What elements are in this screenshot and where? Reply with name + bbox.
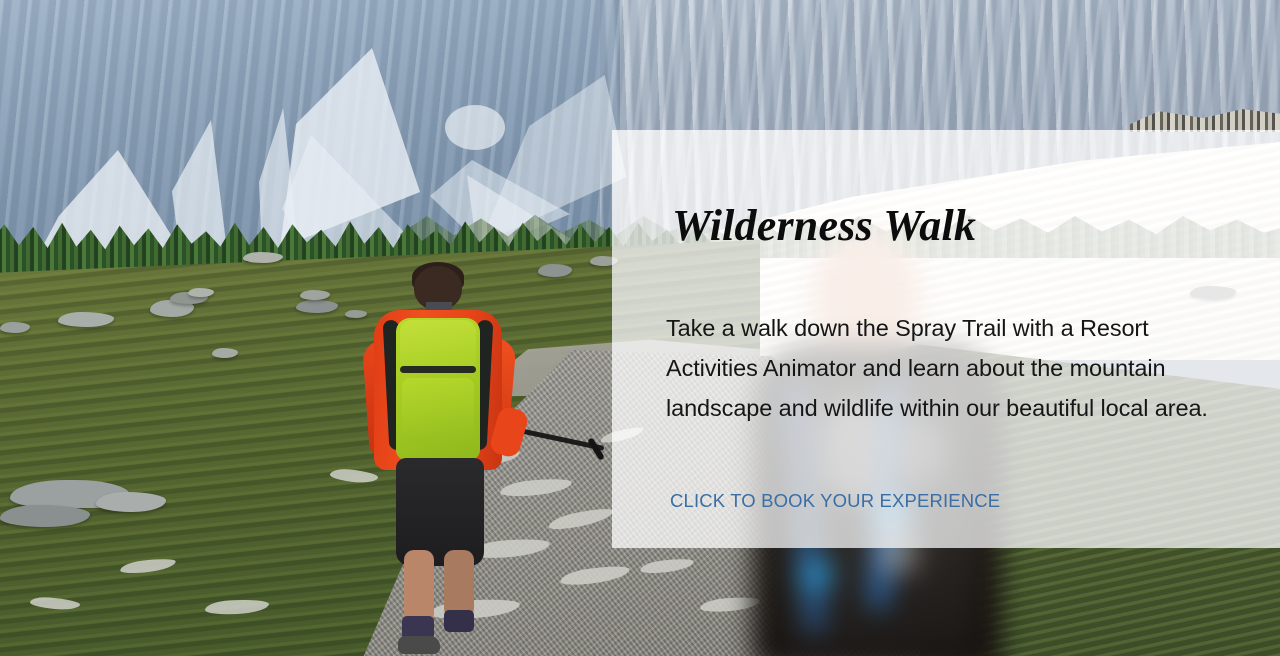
hiker-figure	[352, 258, 532, 656]
hiker-left-leg	[404, 550, 434, 624]
book-experience-link[interactable]: CLICK TO BOOK YOUR EXPERIENCE	[670, 490, 1000, 512]
hiker-right-leg	[444, 550, 474, 618]
foreground-strap-buckle	[800, 560, 832, 590]
backpack-lid	[400, 320, 476, 368]
hiker-right-sock	[444, 610, 474, 632]
snow-patch	[445, 105, 505, 150]
promo-description: Take a walk down the Spray Trail with a …	[666, 308, 1228, 428]
hiker-shoe	[398, 636, 440, 654]
hero-banner: Wilderness Walk Take a walk down the Spr…	[0, 0, 1280, 656]
backpack-front-pocket	[402, 378, 474, 442]
backpack-divider	[400, 366, 476, 373]
page-title: Wilderness Walk	[672, 202, 976, 250]
